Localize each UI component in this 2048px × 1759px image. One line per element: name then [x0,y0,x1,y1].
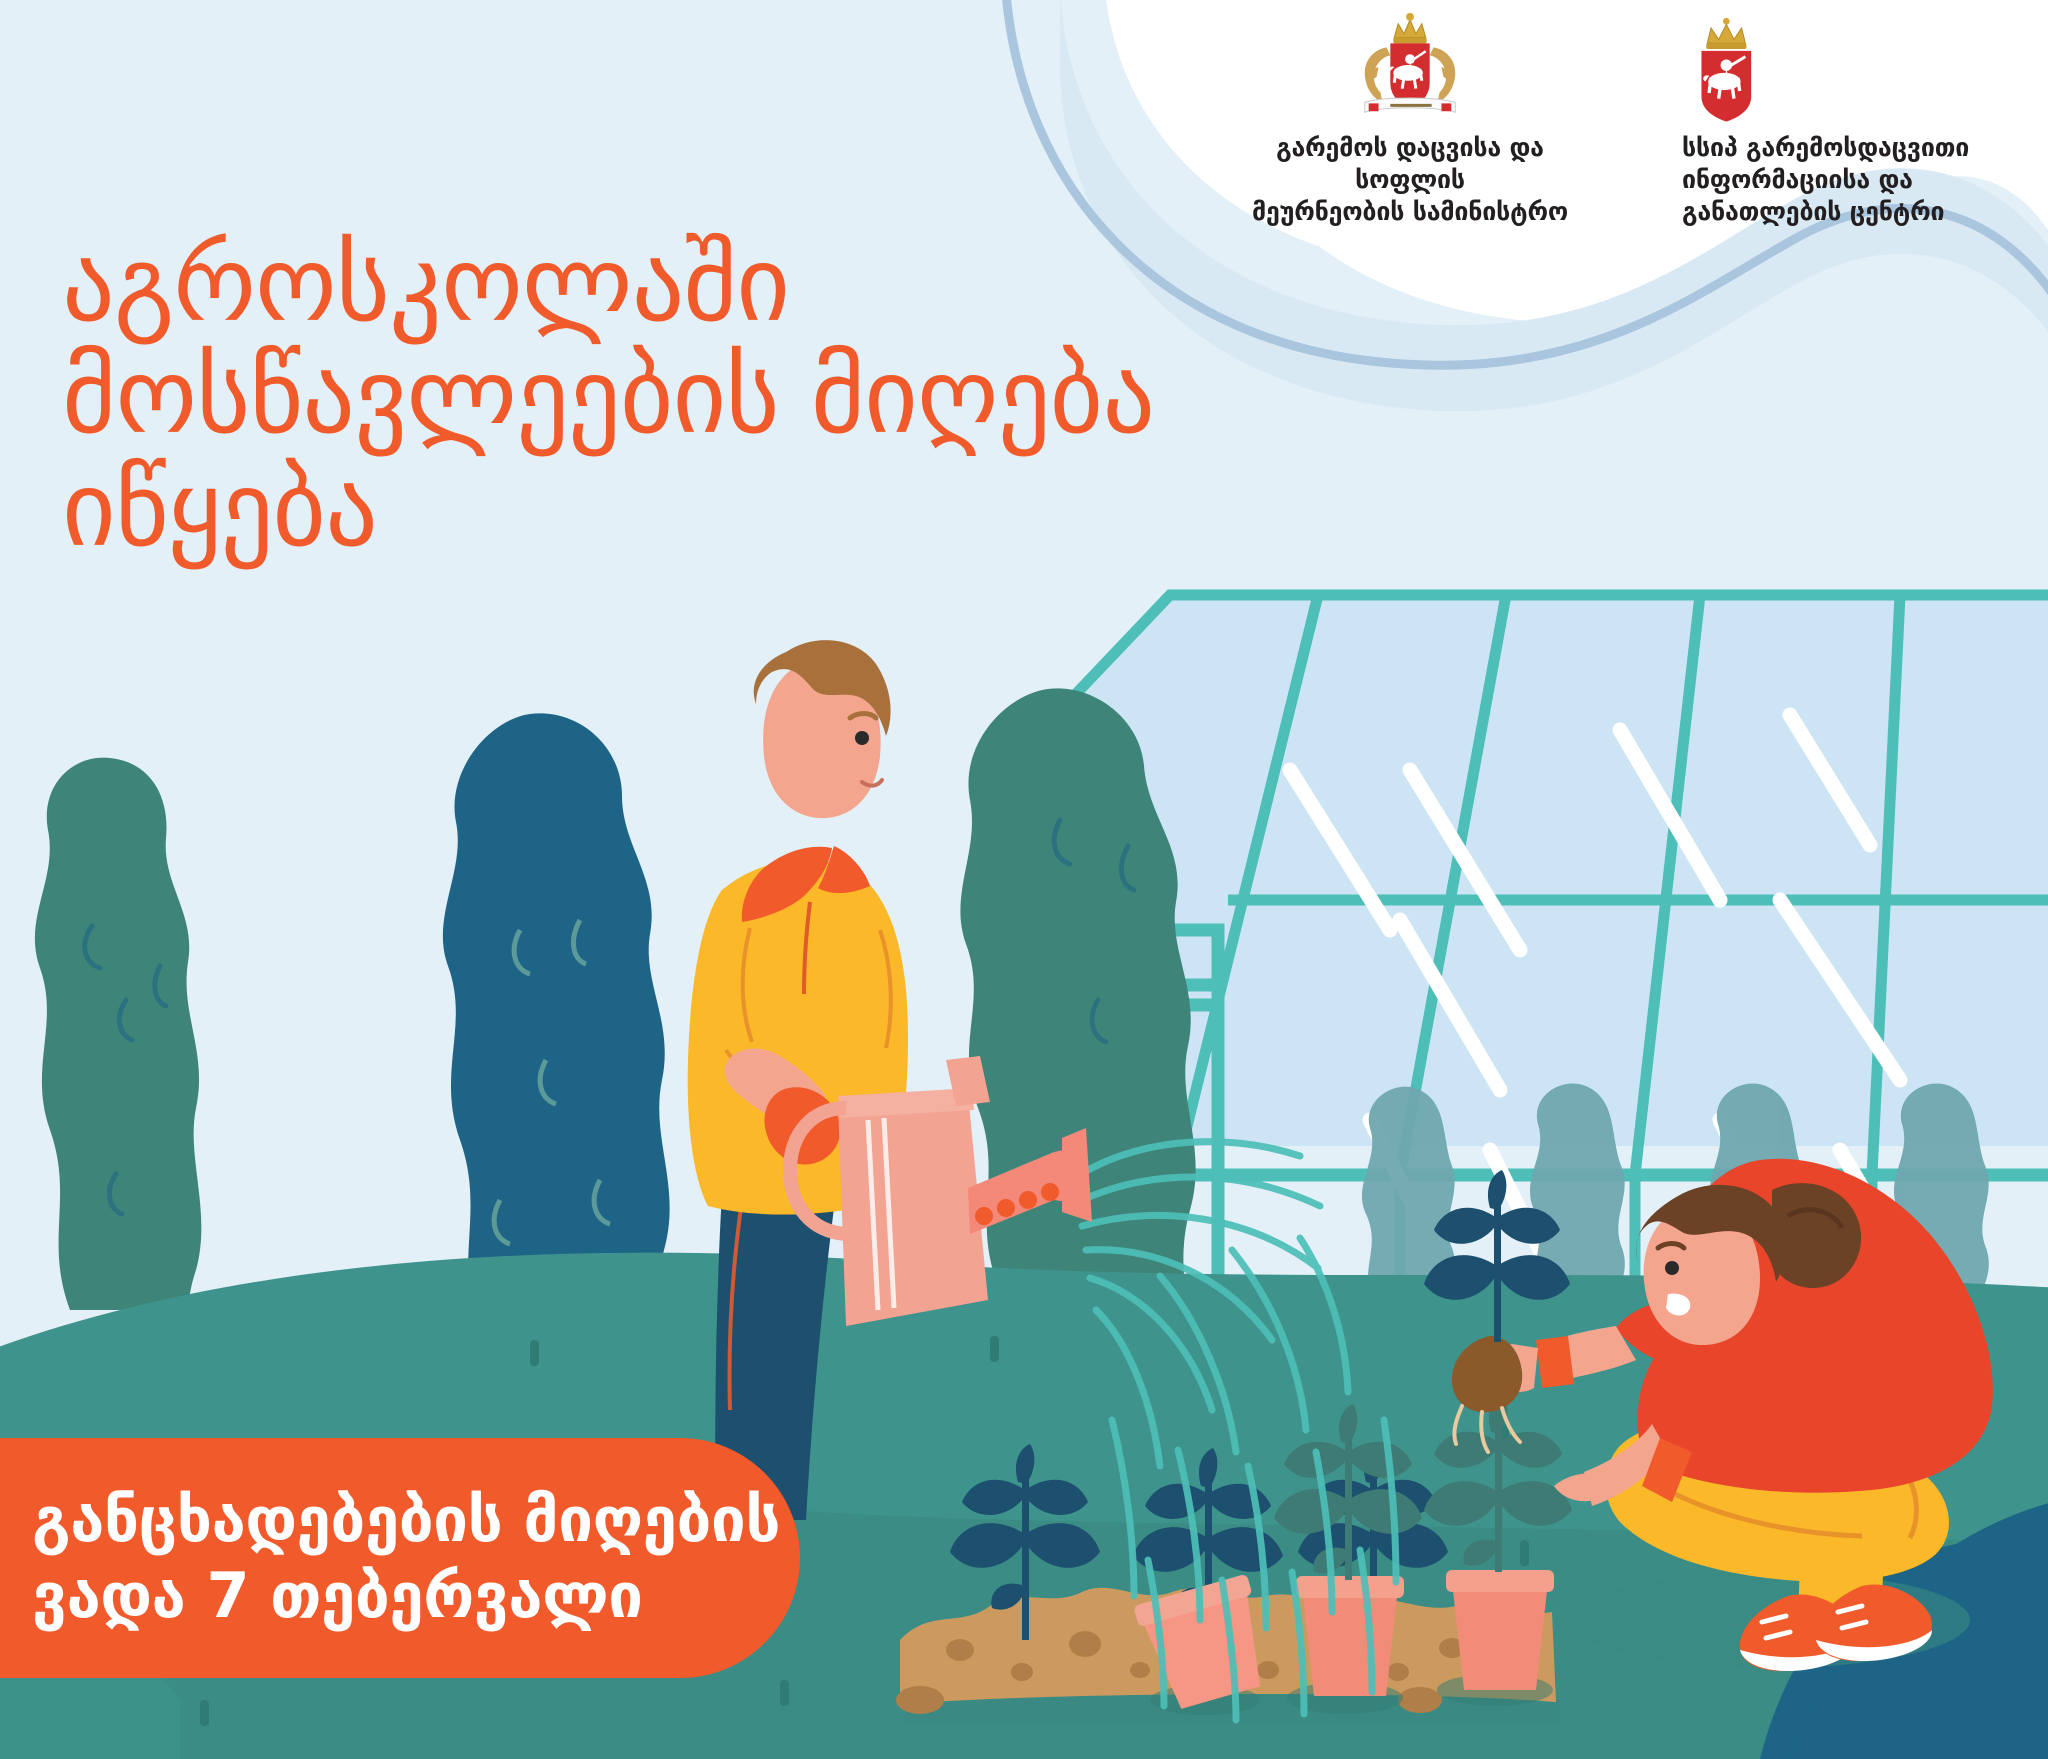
crown-icon [1393,13,1426,43]
crown-icon [1706,18,1746,49]
ribbon-banner [1365,98,1455,112]
deadline-banner: განცხადებების მიღების ვადა 7 თებერვალი [0,1438,800,1678]
logo-center: სსიპ გარემოსდაცვითი ინფორმაციისა და განა… [1660,8,2048,228]
watering-can-body [838,1094,988,1326]
deadline-banner-line-1: განცხადებების მიღების [32,1482,800,1558]
logo-ministry-caption: გარემოს დაცვისა და სოფლის მეურნეობის სამ… [1230,132,1590,228]
deadline-banner-line-2: ვადა 7 თებერვალი [32,1558,800,1634]
cypress-trees [35,688,1196,1340]
man-eye [855,731,869,745]
georgia-shield-crest-icon [1660,8,2048,126]
woman-cuff [1536,1336,1574,1388]
logo-center-caption: სსიპ გარემოსდაცვითი ინფორმაციისა და განა… [1660,132,2048,228]
logo-ministry: გარემოს დაცვისა და სოფლის მეურნეობის სამ… [1230,8,1590,228]
page-title: აგროსკოლაში მოსწავლეების მიღება იწყება [62,228,1242,565]
georgia-coat-of-arms-icon [1230,8,1590,126]
woman-eye [1665,1261,1679,1275]
cypress-tree-center [443,713,670,1340]
poster: გარემოს დაცვისა და სოფლის მეურნეობის სამ… [0,0,2048,1759]
cypress-tree-left [35,758,201,1310]
